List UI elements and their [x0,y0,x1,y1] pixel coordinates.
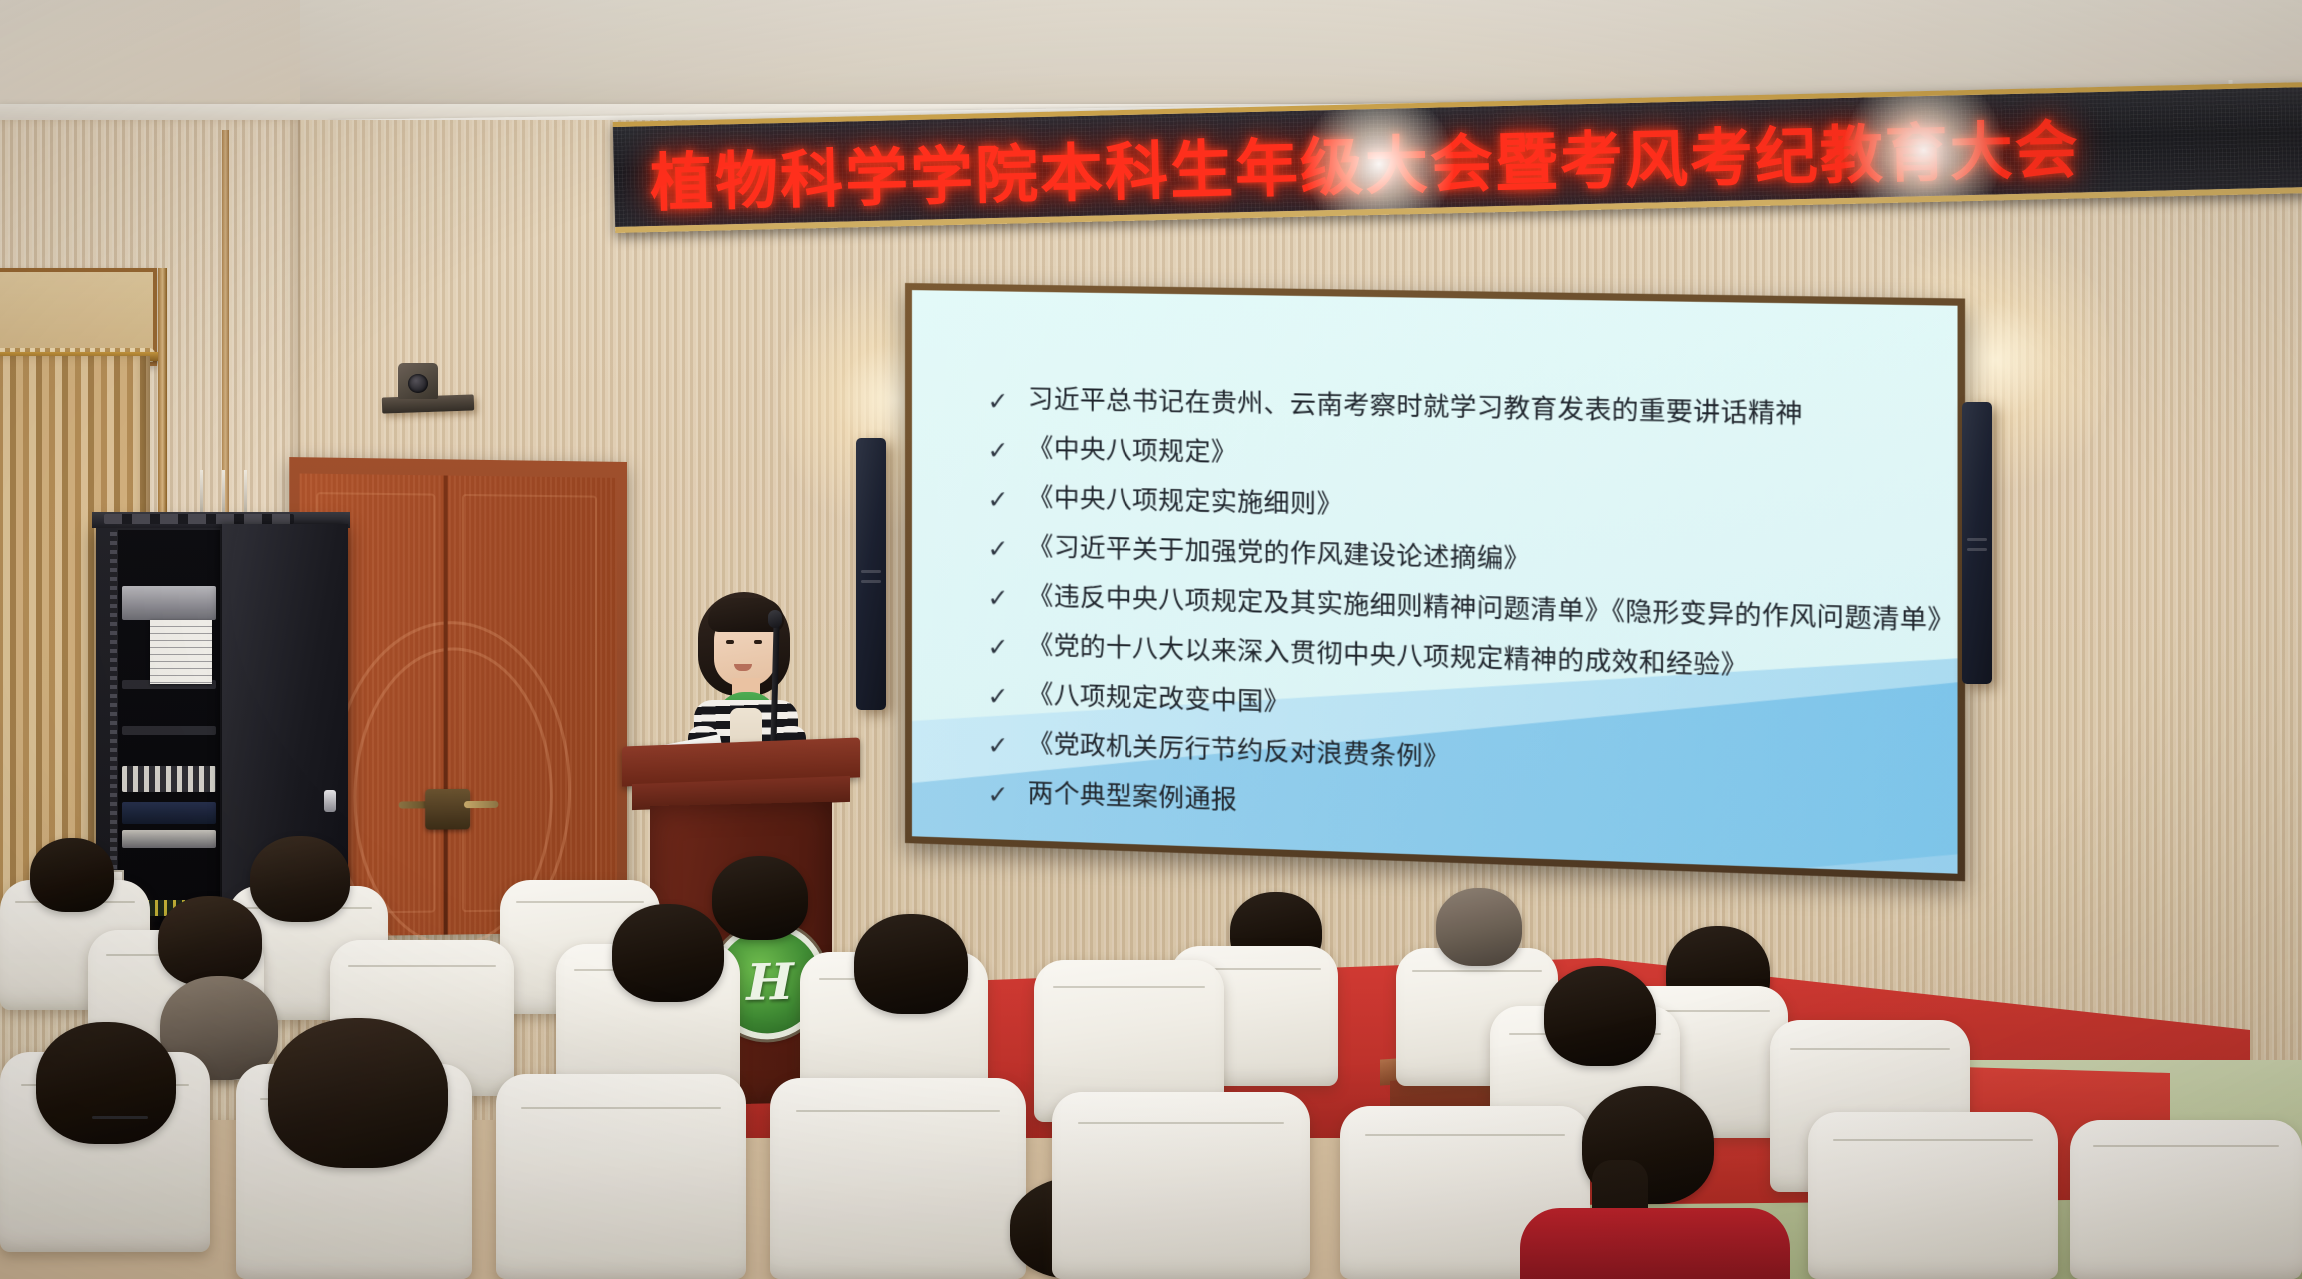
audience-head [1544,966,1656,1066]
rack-unit-player [122,586,216,620]
audience-head [250,836,350,922]
door-handle-right[interactable] [464,801,498,808]
check-icon: ✓ [988,581,1011,611]
slide-bullet-item: ✓ 《中央八项规定实施细则》 [988,483,1925,534]
wireless-antennas [196,470,266,516]
audience-head [36,1022,176,1144]
slide-bullet-text: 两个典型案例通报 [1028,779,1237,815]
presenter-eye [754,640,762,644]
slide-bullet-item: ✓ 《习近平关于加强党的作风建设论述摘编》 [988,532,1925,585]
emblem-letter: H [746,951,789,1011]
rack-door-lock-icon[interactable] [324,790,336,812]
check-icon: ✓ [988,728,1011,758]
eyeglasses-icon [92,1116,148,1119]
microphone-head-icon [768,610,782,628]
check-icon: ✓ [988,630,1011,660]
rack-interior [118,530,220,934]
rack-vent-grille [104,514,294,524]
door-center-seam [444,475,448,934]
chair [2070,1120,2302,1279]
camera-lens-icon [408,374,428,393]
audience-head [854,914,968,1014]
audience-head [158,896,262,986]
slide-bullet-item: ✓ 《党政机关厉行节约反对浪费条例》 [988,728,1925,788]
chair [496,1074,746,1279]
rack-unit-amplifier [122,802,216,824]
chair [1808,1112,2058,1279]
slide-bullet-text: 《中央八项规定实施细则》 [1028,484,1343,520]
slide-bullet-item: ✓ 《党的十八大以来深入贯彻中央八项规定精神的成效和经验》 [988,630,1925,686]
slide-bullet-item: ✓ 两个典型案例通报 [988,778,1925,840]
slide-bullet-text: 《党的十八大以来深入贯彻中央八项规定精神的成效和经验》 [1028,631,1748,681]
presenter-eye [726,640,734,644]
chair [1052,1092,1310,1279]
check-icon: ✓ [988,384,1011,414]
slide-bullet-text: 习近平总书记在贵州、云南考察时就学习教育发表的重要讲话精神 [1028,385,1803,429]
slide-bullet-item: ✓ 《违反中央八项规定及其实施细则精神问题清单》《隐形变异的作风问题清单》 [988,581,1925,636]
slide-bullet-text: 《八项规定改变中国》 [1028,680,1290,717]
door-lock-plate[interactable] [425,789,470,830]
chair [770,1078,1026,1279]
slide-bullet-list: ✓ 习近平总书记在贵州、云南考察时就学习教育发表的重要讲话精神 ✓ 《中央八项规… [988,384,1925,860]
audience-head [612,904,724,1002]
check-icon: ✓ [988,778,1011,808]
check-icon: ✓ [988,679,1011,709]
lecture-hall-photo: 植物科学学院本科生年级大会暨考风考纪教育大会 ✓ 习近平总书记在贵州、云南考察时… [0,0,2302,1279]
slide-bullet-item: ✓ 《中央八项规定》 [988,433,1925,482]
check-icon: ✓ [988,483,1011,513]
column-speaker-left [856,438,886,710]
rack-shelf [122,726,216,735]
slide-bullet-item: ✓ 《八项规定改变中国》 [988,679,1925,737]
rack-unit-processor [122,830,216,848]
column-speaker-right [1962,402,1992,684]
audience-head [30,838,114,912]
check-icon: ✓ [988,532,1011,562]
slide-bullet-text: 《中央八项规定》 [1028,434,1237,467]
audience-head [268,1018,448,1168]
audience-head [712,856,808,940]
slide-bullet-text: 《违反中央八项规定及其实施细则精神问题清单》《隐形变异的作风问题清单》 [1028,582,1955,636]
rack-unit-mixer [122,766,216,792]
check-icon: ✓ [988,433,1011,463]
slide-bullet-text: 《党政机关厉行节约反对浪费条例》 [1028,730,1450,772]
slide-bullet-text: 《习近平关于加强党的作风建设论述摘编》 [1028,533,1531,574]
projection-screen[interactable]: ✓ 习近平总书记在贵州、云南考察时就学习教育发表的重要讲话精神 ✓ 《中央八项规… [912,290,1958,874]
rack-instruction-sheet [150,620,212,684]
slide-bullet-item: ✓ 习近平总书记在贵州、云南考察时就学习教育发表的重要讲话精神 [988,384,1925,431]
audience-head [1436,888,1522,966]
audience-shoulders [1520,1208,1790,1279]
projection-screen-frame: ✓ 习近平总书记在贵州、云南考察时就学习教育发表的重要讲话精神 ✓ 《中央八项规… [905,283,1965,881]
